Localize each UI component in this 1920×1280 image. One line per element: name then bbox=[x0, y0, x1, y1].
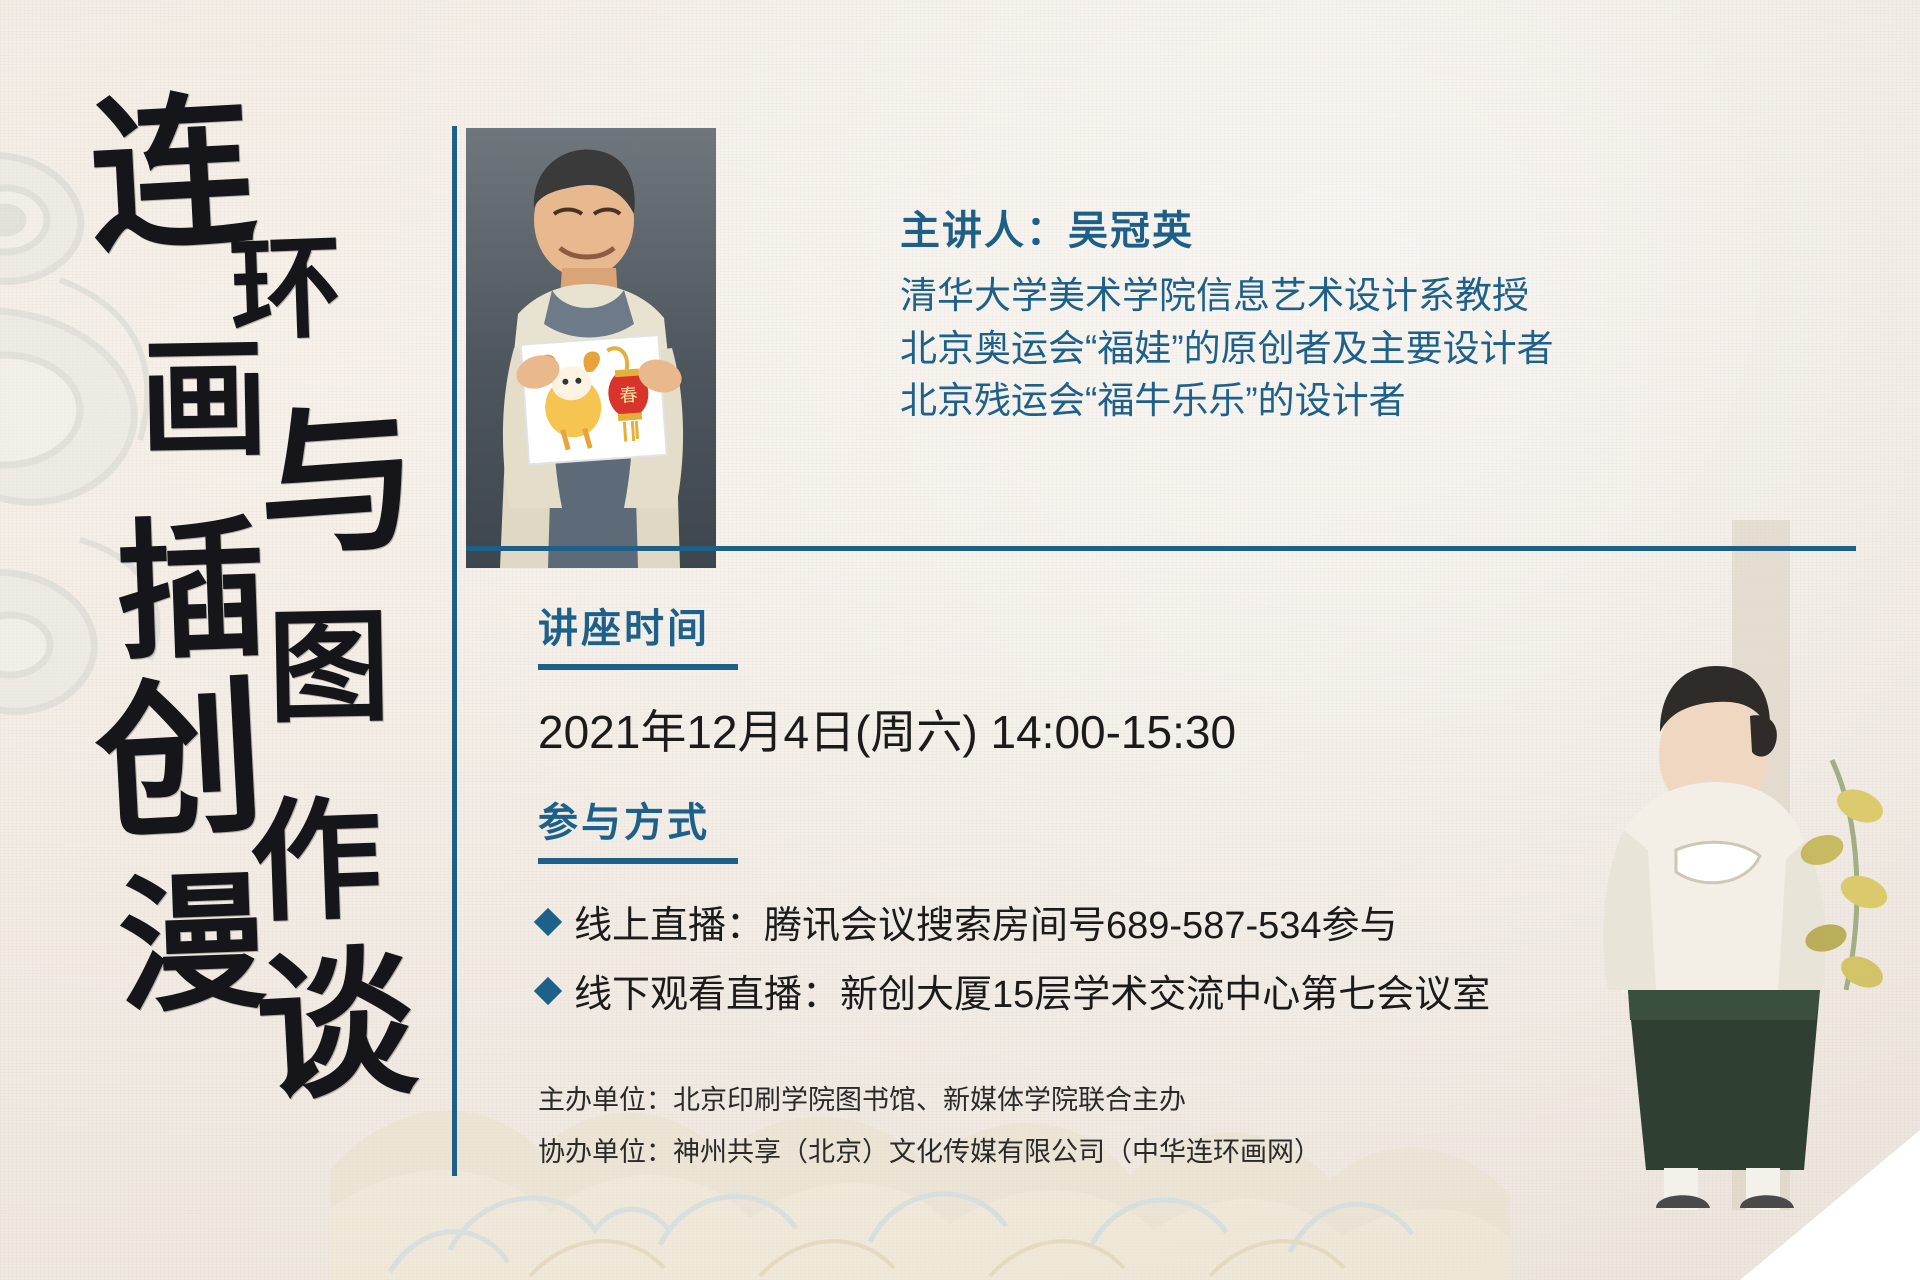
corner-fold-decoration bbox=[1740, 1130, 1920, 1280]
poster-canvas: 连 环 画 与 插 图 创 作 漫 谈 bbox=[0, 0, 1920, 1280]
join-item-online: 线上直播：腾讯会议搜索房间号689-587-534参与 bbox=[538, 894, 1490, 949]
join-section: 参与方式 线上直播：腾讯会议搜索房间号689-587-534参与 线下观看直播：… bbox=[538, 790, 1490, 1032]
join-item-online-text: 线上直播：腾讯会议搜索房间号689-587-534参与 bbox=[574, 894, 1398, 949]
time-section: 讲座时间 2021年12月4日(周六) 14:00-15:30 bbox=[538, 596, 1236, 762]
title-char-9: 漫 bbox=[115, 867, 268, 1020]
organizer-co-host: 协办单位：神州共享（北京）文化传媒有限公司（中华连环画网） bbox=[538, 1128, 1321, 1178]
vertical-divider bbox=[452, 126, 457, 1176]
speaker-info-block: 主讲人：吴冠英 清华大学美术学院信息艺术设计系教授 北京奥运会“福娃”的原创者及… bbox=[900, 198, 1850, 428]
title-char-7: 创 bbox=[92, 672, 269, 849]
title-char-3: 画 bbox=[139, 335, 269, 465]
time-section-heading: 讲座时间 bbox=[538, 596, 1236, 654]
title-char-10: 谈 bbox=[252, 942, 420, 1110]
title-char-4: 与 bbox=[253, 397, 424, 568]
title-char-5: 插 bbox=[113, 513, 268, 668]
speaker-credential-1: 清华大学美术学院信息艺术设计系教授 bbox=[900, 270, 1850, 323]
speaker-credential-3: 北京残运会“福牛乐乐”的设计者 bbox=[900, 375, 1850, 428]
join-section-heading: 参与方式 bbox=[538, 790, 1490, 848]
reading-lady-illustration bbox=[1564, 520, 1894, 1210]
page-title: 连 环 画 与 插 图 创 作 漫 谈 bbox=[58, 84, 438, 1094]
speaker-photo: 春 bbox=[466, 128, 716, 568]
organizer-host: 主办单位：北京印刷学院图书馆、新媒体学院联合主办 bbox=[538, 1076, 1186, 1126]
svg-text:春: 春 bbox=[619, 385, 638, 407]
diamond-icon bbox=[534, 907, 562, 935]
diamond-icon bbox=[534, 976, 562, 1004]
title-char-6: 图 bbox=[267, 605, 391, 729]
join-heading-underline bbox=[538, 858, 738, 864]
join-item-offline-text: 线下观看直播：新创大厦15层学术交流中心第七会议室 bbox=[574, 963, 1490, 1018]
lecture-datetime: 2021年12月4日(周六) 14:00-15:30 bbox=[538, 696, 1236, 762]
join-item-offline: 线下观看直播：新创大厦15层学术交流中心第七会议室 bbox=[538, 963, 1490, 1018]
time-heading-underline bbox=[538, 664, 738, 670]
speaker-credential-2: 北京奥运会“福娃”的原创者及主要设计者 bbox=[900, 323, 1850, 376]
title-char-8: 作 bbox=[248, 794, 385, 931]
speaker-name: 主讲人：吴冠英 bbox=[900, 198, 1850, 256]
horizontal-divider bbox=[466, 546, 1856, 551]
